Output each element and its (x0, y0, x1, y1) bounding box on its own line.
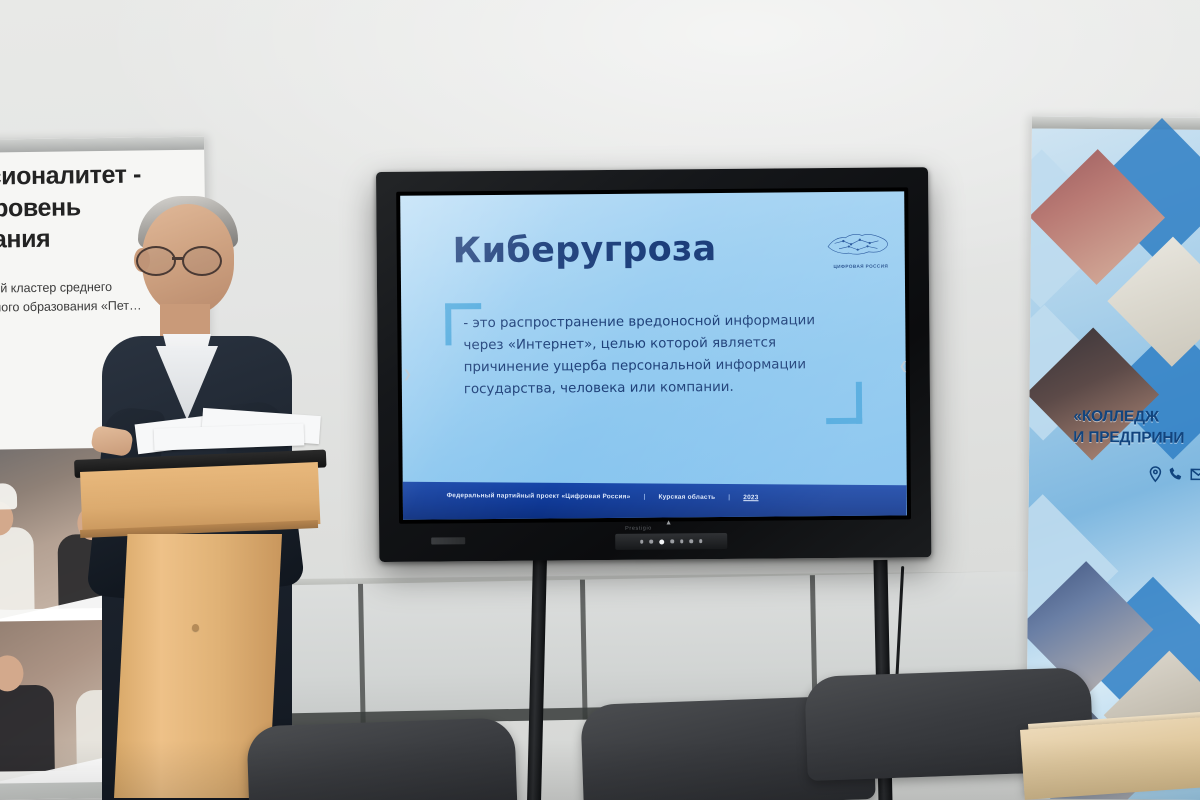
phone-icon (1168, 466, 1185, 483)
digital-russia-logo: ЦИФРОВАЯ РОССИЯ (825, 227, 897, 269)
glasses-left-lens (136, 246, 176, 276)
partition-mullion (580, 580, 588, 720)
slide-footer-band: Федеральный партийный проект «Цифровая Р… (402, 482, 906, 520)
paper-sheet (154, 423, 305, 450)
bezel-arrow-right-icon[interactable]: ❮ (899, 359, 908, 372)
footer-separator-1: | (643, 493, 645, 500)
banner-top-rail (0, 137, 204, 153)
presenter-glasses (136, 246, 240, 272)
display-io-ports[interactable] (431, 537, 465, 544)
floor-shadow (0, 740, 1200, 800)
bezel-arrow-top-icon[interactable]: ▲ (665, 519, 672, 526)
location-pin-icon (1147, 465, 1164, 482)
footer-project-label: Федеральный партийный проект «Цифровая Р… (447, 492, 631, 500)
email-icon (1190, 466, 1200, 483)
banner-right-title: «КОЛЛЕДЖ И ПРЕДПРИНИ (1073, 407, 1200, 450)
glasses-right-lens (182, 246, 222, 276)
source-button[interactable] (650, 540, 654, 544)
partition-mullion (358, 584, 366, 724)
home-button[interactable] (659, 539, 664, 544)
footer-separator-2: | (728, 494, 730, 501)
logo-caption: ЦИФРОВАЯ РОССИЯ (825, 263, 897, 269)
slide-body-text: - это распространение вредоносной информ… (463, 310, 856, 401)
display-screen[interactable]: Киберугроза ЦИФРОВАЯ РОССИЯ - это расп (400, 191, 907, 519)
handout-papers (136, 410, 326, 454)
slide-footer-row: Федеральный партийный проект «Цифровая Р… (447, 492, 887, 502)
power-button[interactable] (640, 540, 644, 544)
russia-map-icon (825, 228, 891, 263)
display-control-panel[interactable] (615, 533, 727, 550)
volume-up-button[interactable] (689, 539, 693, 543)
interactive-display[interactable]: Киберугроза ЦИФРОВАЯ РОССИЯ - это расп (376, 167, 931, 562)
podium-screw (192, 624, 199, 631)
volume-down-button[interactable] (680, 540, 684, 544)
footer-year-label: 2023 (743, 494, 758, 501)
banner-right-title-line-2: И ПРЕДПРИНИ (1073, 428, 1200, 450)
menu-button[interactable] (670, 540, 674, 544)
banner-right-title-line-1: «КОЛЛЕДЖ (1073, 407, 1200, 429)
settings-button[interactable] (699, 539, 703, 543)
banner-right-contact-icons (1147, 465, 1200, 503)
footer-region-label: Курская область (658, 494, 715, 501)
presentation-room-scene: Профессионалитет - новый уровень образов… (0, 0, 1200, 800)
slide-title: Киберугроза (453, 229, 717, 271)
glasses-bridge (172, 257, 184, 260)
display-brand-label: Prestigio (625, 526, 652, 532)
bezel-arrow-left-icon[interactable]: ❯ (403, 368, 412, 381)
